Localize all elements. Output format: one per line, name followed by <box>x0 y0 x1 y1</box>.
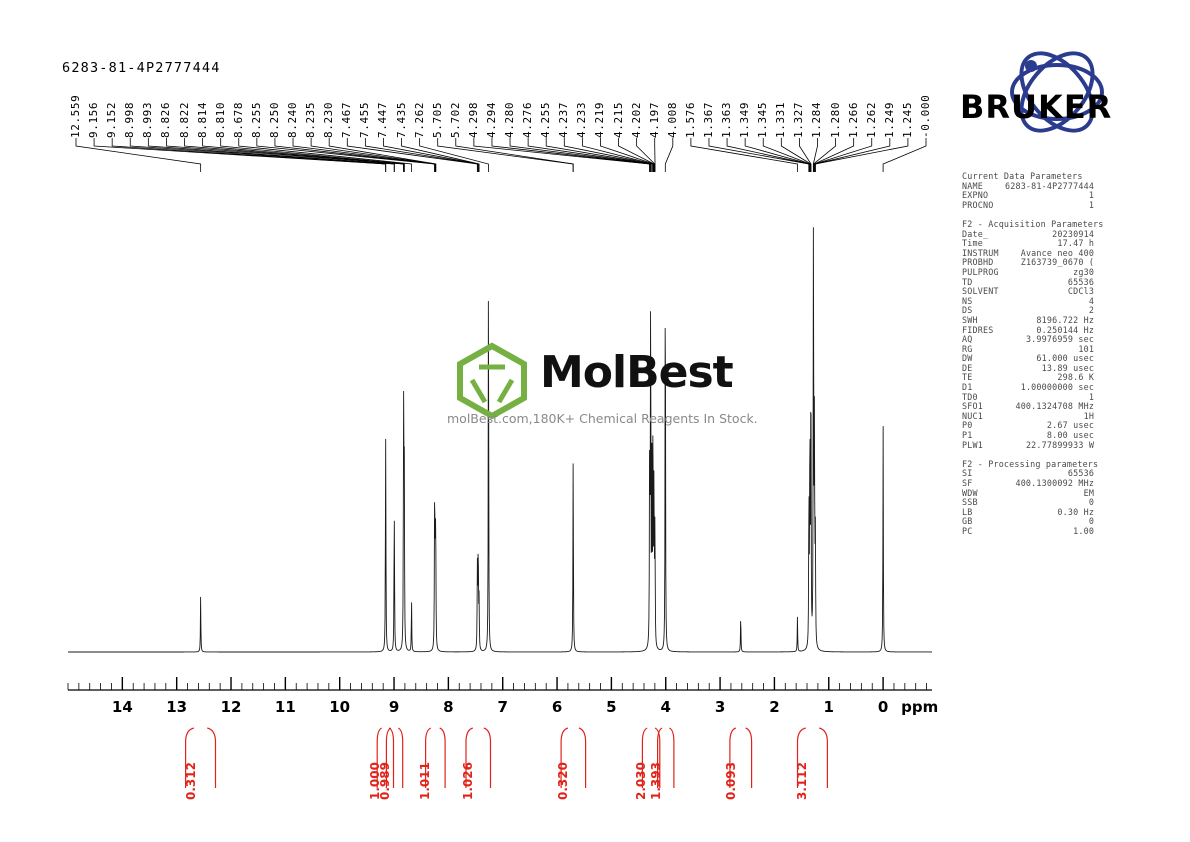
peak-shift-label: 1.327 <box>793 102 804 138</box>
param-value: 22.77899933 W <box>1003 441 1094 451</box>
peak-connector <box>815 138 907 172</box>
integral-value: 1.026 <box>462 762 474 800</box>
param-key: PROCNO <box>962 201 1003 211</box>
integral-value: 0.312 <box>185 762 197 800</box>
param-row: NS4 <box>962 297 1162 307</box>
axis-unit-label: ppm <box>901 698 938 716</box>
peak-connector <box>166 138 403 172</box>
integral-value: 0.320 <box>557 762 569 800</box>
peak-shift-label: 8.230 <box>323 102 334 138</box>
peak-shift-label: 1.576 <box>685 102 696 138</box>
peak-shift-label: 4.215 <box>613 102 624 138</box>
param-row: LB0.30 Hz <box>962 508 1162 518</box>
peak-shift-label: 1.363 <box>721 102 732 138</box>
peak-shift-label: 1.245 <box>902 102 913 138</box>
peak-shift-label: 8.822 <box>179 102 190 138</box>
peak-shift-label: 4.197 <box>649 102 660 138</box>
peak-connector <box>745 138 810 172</box>
peak-shift-label: 4.202 <box>631 102 642 138</box>
peak-shift-label: 4.233 <box>576 102 587 138</box>
peak-shift-label: 4.255 <box>540 102 551 138</box>
integral-value: 0.989 <box>379 762 391 800</box>
param-value: 6283-81-4P2777444 <box>1003 182 1094 192</box>
peak-connector <box>582 138 653 172</box>
param-row: PULPROGzg30 <box>962 268 1162 278</box>
peak-shift-label: 4.008 <box>667 102 678 138</box>
integral-value: 1.393 <box>650 762 662 800</box>
peak-shift-label: 8.240 <box>287 102 298 138</box>
axis-tick-label: 8 <box>443 698 453 716</box>
peak-shift-label: 1.249 <box>884 102 895 138</box>
peak-connector <box>814 138 836 172</box>
peak-shift-label: 7.435 <box>396 102 407 138</box>
param-value: 0.30 Hz <box>1003 508 1094 518</box>
param-value: 1.00000000 sec <box>1003 383 1094 393</box>
axis-tick-label: 10 <box>329 698 350 716</box>
axis-tick-label: 4 <box>661 698 671 716</box>
param-row: SFO1400.1324708 MHz <box>962 402 1162 412</box>
molbest-tagline: molBest.com,180K+ Chemical Reagents In S… <box>447 411 758 426</box>
param-value: 400.1324708 MHz <box>1003 402 1094 412</box>
molbest-watermark: MolBest molBest.com,180K+ Chemical Reage… <box>452 341 752 431</box>
integral-value: 3.112 <box>796 762 808 800</box>
peak-shift-label: 8.255 <box>251 102 262 138</box>
param-row: WDWEM <box>962 489 1162 499</box>
peak-shift-label: 7.447 <box>377 102 388 138</box>
peak-connector-lines <box>0 138 950 172</box>
param-row: NAME6283-81-4P2777444 <box>962 182 1162 192</box>
peak-connector <box>665 138 673 172</box>
param-key: PLW1 <box>962 441 1003 451</box>
param-value: 1 <box>1003 191 1094 201</box>
peak-shift-label: 8.814 <box>197 102 208 138</box>
peak-shift-label: 8.235 <box>305 102 316 138</box>
peak-shift-label: 9.156 <box>88 102 99 138</box>
peak-connector <box>383 138 478 172</box>
peak-shift-label: -0.000 <box>920 95 931 138</box>
peak-shift-label: 12.559 <box>70 95 81 138</box>
acquisition-parameters-panel: Current Data ParametersNAME6283-81-4P277… <box>962 172 1162 537</box>
peak-connector <box>814 138 853 172</box>
peak-shift-label: 8.810 <box>215 102 226 138</box>
peak-shift-label: 8.998 <box>124 102 135 138</box>
peak-shift-label: 1.349 <box>739 102 750 138</box>
params-section-header: F2 - Processing parameters <box>962 460 1162 470</box>
peak-shift-label: 4.298 <box>468 102 479 138</box>
param-row: SOLVENTCDCl3 <box>962 287 1162 297</box>
peak-shift-label: 4.280 <box>504 102 515 138</box>
x-axis-labels: 14131211109876543210ppm <box>0 676 950 726</box>
peak-shift-label: 7.455 <box>359 102 370 138</box>
bruker-electron-dot <box>1025 60 1037 72</box>
param-value: EM <box>1003 489 1094 499</box>
param-row: GB0 <box>962 517 1162 527</box>
param-value: 4 <box>1003 297 1094 307</box>
axis-tick-label: 1 <box>824 698 834 716</box>
peak-connector <box>510 138 650 172</box>
integral-value: 1.011 <box>419 762 431 800</box>
param-key: PC <box>962 527 1003 537</box>
page-title: 6283-81-4P2777444 <box>62 60 221 76</box>
peak-connector <box>763 138 810 172</box>
axis-tick-label: 6 <box>552 698 562 716</box>
peak-shift-label: 8.826 <box>160 102 171 138</box>
peak-connector <box>456 138 573 172</box>
axis-tick-label: 3 <box>715 698 725 716</box>
peak-connector <box>311 138 436 172</box>
param-row: PLW122.77899933 W <box>962 441 1162 451</box>
molbest-wordmark: MolBest <box>540 347 733 398</box>
peak-shift-label-list: 12.5599.1569.1528.9988.9938.8268.8228.81… <box>0 76 950 138</box>
peak-connector <box>709 138 809 172</box>
integral-value: 0.093 <box>725 762 737 800</box>
param-value: 1.00 <box>1003 527 1094 537</box>
axis-tick-label: 13 <box>166 698 187 716</box>
peak-shift-label: 1.345 <box>757 102 768 138</box>
peak-shift-label: 4.237 <box>558 102 569 138</box>
param-row: PC1.00 <box>962 527 1162 537</box>
integral-value: 2.030 <box>635 762 647 800</box>
spectrum-path <box>68 228 932 652</box>
peak-shift-label: 5.705 <box>432 102 443 138</box>
param-row: D11.00000000 sec <box>962 383 1162 393</box>
peak-shift-label: 1.280 <box>830 102 841 138</box>
peak-shift-label: 8.250 <box>269 102 280 138</box>
peak-connector <box>76 138 201 172</box>
peak-shift-label: 7.467 <box>341 102 352 138</box>
param-row: PROCNO1 <box>962 201 1162 211</box>
peak-shift-label: 5.702 <box>450 102 461 138</box>
axis-tick-label: 5 <box>606 698 616 716</box>
peak-shift-label: 1.284 <box>811 102 822 138</box>
axis-tick-label: 11 <box>275 698 296 716</box>
peak-shift-label: 4.276 <box>522 102 533 138</box>
axis-tick-label: 7 <box>497 698 507 716</box>
bruker-wordmark: BRUKER <box>960 88 1112 126</box>
integral-value-list: 0.3121.0000.9891.0111.0260.3202.0301.393… <box>0 726 950 816</box>
param-row: AQ3.9976959 sec <box>962 335 1162 345</box>
axis-tick-label: 12 <box>221 698 242 716</box>
peak-shift-label: 1.266 <box>848 102 859 138</box>
peak-connector <box>815 138 890 172</box>
peak-connector <box>438 138 573 172</box>
param-value: CDCl3 <box>1003 287 1094 297</box>
peak-shift-label: 4.294 <box>486 102 497 138</box>
peak-shift-label: 1.367 <box>703 102 714 138</box>
param-row: SF400.1300092 MHz <box>962 479 1162 489</box>
param-value: 400.1300092 MHz <box>1003 479 1094 489</box>
bruker-logo: BRUKER <box>962 44 1152 140</box>
peak-shift-label: 7.262 <box>414 102 425 138</box>
axis-tick-label: 2 <box>769 698 779 716</box>
peak-shift-label: 8.678 <box>233 102 244 138</box>
peak-shift-label: 1.262 <box>866 102 877 138</box>
peak-shift-label: 1.331 <box>775 102 786 138</box>
param-value: 1 <box>1003 201 1094 211</box>
axis-tick-label: 14 <box>112 698 133 716</box>
peak-shift-label: 4.219 <box>594 102 605 138</box>
peak-shift-label: 8.993 <box>142 102 153 138</box>
hexagon-molecule-icon <box>452 341 532 419</box>
peak-shift-label: 9.152 <box>106 102 117 138</box>
axis-tick-label: 9 <box>389 698 399 716</box>
axis-tick-label: 0 <box>878 698 888 716</box>
peak-connector <box>474 138 650 172</box>
